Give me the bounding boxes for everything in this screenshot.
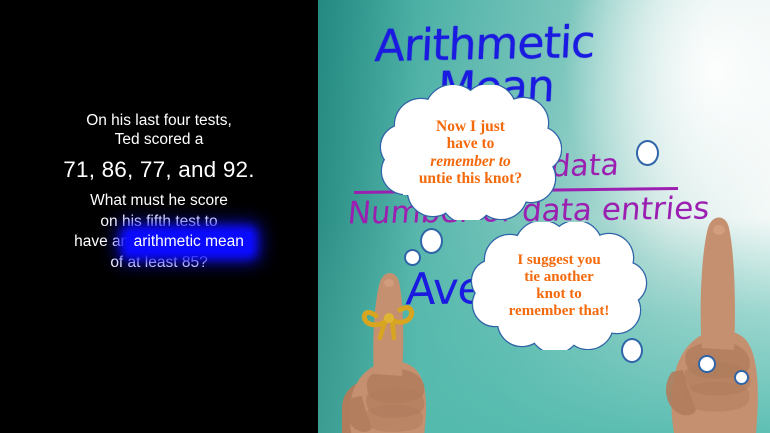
left-hand-with-ribbon — [324, 258, 464, 433]
problem-line-3: What must he score — [0, 192, 318, 211]
highlight-label: arithmetic mean — [134, 233, 244, 250]
problem-line-6: of at least 85? — [0, 254, 318, 273]
thought-dot-2-tiny — [734, 370, 749, 385]
thought-dot-small — [404, 249, 421, 266]
problem-statement: On his last four tests, Ted scored a 71,… — [0, 112, 318, 273]
thought-dot-2-large — [636, 140, 659, 166]
highlight-arithmetic-mean: arithmetic mean — [134, 233, 244, 252]
problem-line-1: On his last four tests, — [0, 112, 318, 131]
problem-line-5: have an arithmetic mean — [0, 233, 318, 252]
problem-panel: On his last four tests, Ted scored a 71,… — [0, 0, 318, 433]
slide-canvas: On his last four tests, Ted scored a 71,… — [0, 0, 770, 433]
thought-bubble-bottom: I suggest you tie another knot to rememb… — [470, 222, 648, 350]
thought-bubble-top: Now I just have to remember to untie thi… — [379, 85, 562, 220]
problem-line-5-prefix: have an — [74, 233, 129, 250]
problem-scores: 71, 86, 77, and 92. — [0, 156, 318, 183]
thought-dot-2-small — [698, 355, 716, 373]
problem-line-4: on his fifth test to — [0, 213, 318, 232]
right-hand — [646, 200, 770, 433]
whiteboard-photo: Arithmetic Mean Sum of data Number of da… — [318, 0, 770, 433]
thought-dot-large — [420, 228, 443, 254]
thought-dot-2-mid — [621, 338, 643, 363]
problem-line-2: Ted scored a — [0, 131, 318, 150]
